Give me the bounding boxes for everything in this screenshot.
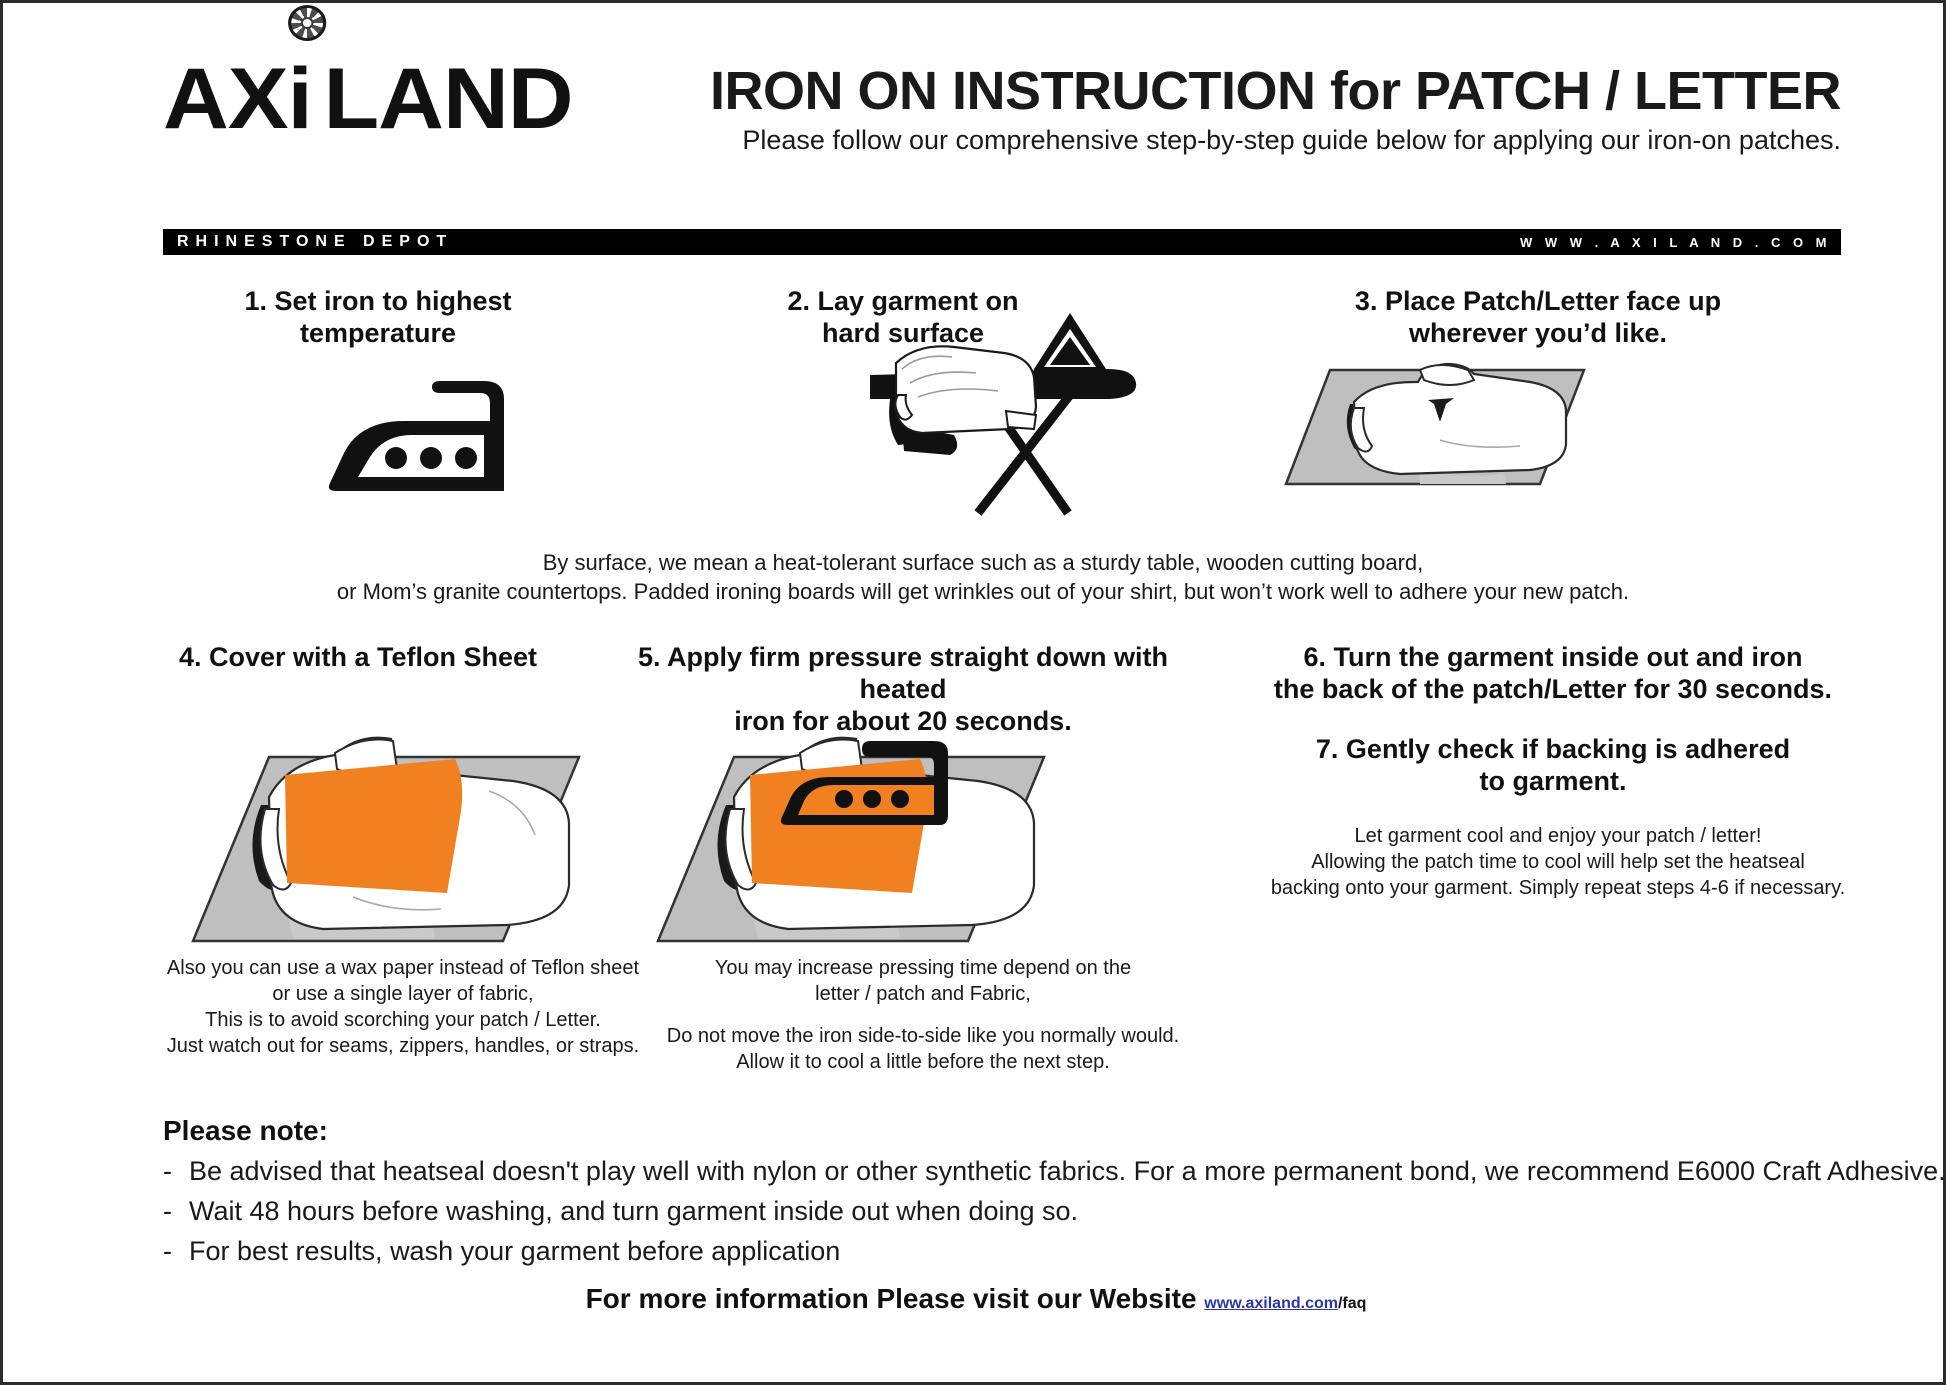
brand-bar: RHINESTONE DEPOT W W W . A X I L A N D .…	[163, 229, 1841, 255]
note-item-text: Be advised that heatseal doesn't play we…	[189, 1156, 1946, 1186]
brand-website: W W W . A X I L A N D . C O M	[1520, 233, 1831, 252]
note-dash: -	[163, 1191, 189, 1231]
page-title: IRON ON INSTRUCTION for PATCH / LETTER	[591, 61, 1841, 121]
step-5-caption-a: You may increase pressing time depend on…	[628, 955, 1218, 1007]
page-subtitle: Please follow our comprehensive step-by-…	[591, 123, 1841, 157]
website-link[interactable]: www.axiland.com	[1204, 1295, 1338, 1312]
logo-wordmark: AXiLAND	[163, 51, 566, 147]
step-7-heading: 7. Gently check if backing is adhered to…	[1243, 733, 1863, 797]
iron-3-dots-icon	[318, 375, 548, 505]
cooling-note: Let garment cool and enjoy your patch / …	[1258, 823, 1858, 901]
iron-dot-3	[455, 447, 477, 469]
iron-dot-1	[835, 790, 853, 808]
teflon-sheet	[285, 759, 462, 893]
step-4-caption-b: Just watch out for seams, zippers, handl…	[138, 1033, 668, 1059]
garment-cuff	[1006, 411, 1036, 429]
instruction-sheet-page: AXiLAND IRON ON INSTRUCTION for PATCH / …	[0, 0, 1946, 1385]
step-4-caption-a: Also you can use a wax paper instead of …	[138, 955, 668, 1033]
note-item: -Wait 48 hours before washing, and turn …	[163, 1191, 1863, 1231]
note-dash: -	[163, 1231, 189, 1271]
please-note-title: Please note:	[163, 1111, 1863, 1151]
iron-pressing-teflon-sheet-illustration	[648, 725, 1048, 955]
step-5-heading: 5. Apply firm pressure straight down wit…	[593, 641, 1213, 737]
step-6-heading: 6. Turn the garment inside out and iron …	[1243, 641, 1863, 705]
garment-with-patch-on-hard-surface-illustration	[1268, 348, 1588, 493]
header: AXiLAND IRON ON INSTRUCTION for PATCH / …	[163, 51, 1841, 203]
note-item: -For best results, wash your garment bef…	[163, 1231, 1863, 1271]
iron-dot-2	[863, 790, 881, 808]
ironing-board-with-garment-illustration	[858, 303, 1178, 553]
logo-text-part2: LAND	[324, 51, 573, 147]
step-1-heading: 1. Set iron to highest temperature	[163, 285, 593, 349]
rhinestone-gem-icon	[289, 5, 327, 41]
garment-covered-with-teflon-sheet-illustration	[183, 725, 583, 955]
brand-logo: AXiLAND	[163, 51, 543, 147]
iron-dot-3	[891, 790, 909, 808]
iron-dot-1	[385, 447, 407, 469]
logo-letter-i: i	[288, 51, 324, 147]
logo-i-char: i	[288, 51, 312, 147]
step-3-heading: 3. Place Patch/Letter face up wherever y…	[1243, 285, 1833, 349]
logo-text-part1: AX	[163, 51, 288, 147]
iron-dot-2	[420, 447, 442, 469]
step-4-heading: 4. Cover with a Teflon Sheet	[143, 641, 573, 673]
footer: For more information Please visit our We…	[3, 1283, 1946, 1315]
please-note-section: Please note: -Be advised that heatseal d…	[163, 1111, 1863, 1271]
footer-link-suffix: /faq	[1338, 1295, 1366, 1312]
note-item: -Be advised that heatseal doesn't play w…	[163, 1151, 1863, 1191]
step-5-caption-b: Do not move the iron side-to-side like y…	[628, 1023, 1218, 1075]
footer-lead-text: For more information Please visit our We…	[586, 1283, 1205, 1314]
surface-explanation-note: By surface, we mean a heat-tolerant surf…	[253, 548, 1713, 606]
note-item-text: Wait 48 hours before washing, and turn g…	[189, 1196, 1078, 1226]
note-item-text: For best results, wash your garment befo…	[189, 1236, 840, 1266]
brand-tagline: RHINESTONE DEPOT	[177, 232, 453, 252]
title-block: IRON ON INSTRUCTION for PATCH / LETTER P…	[591, 61, 1841, 157]
note-dash: -	[163, 1151, 189, 1191]
